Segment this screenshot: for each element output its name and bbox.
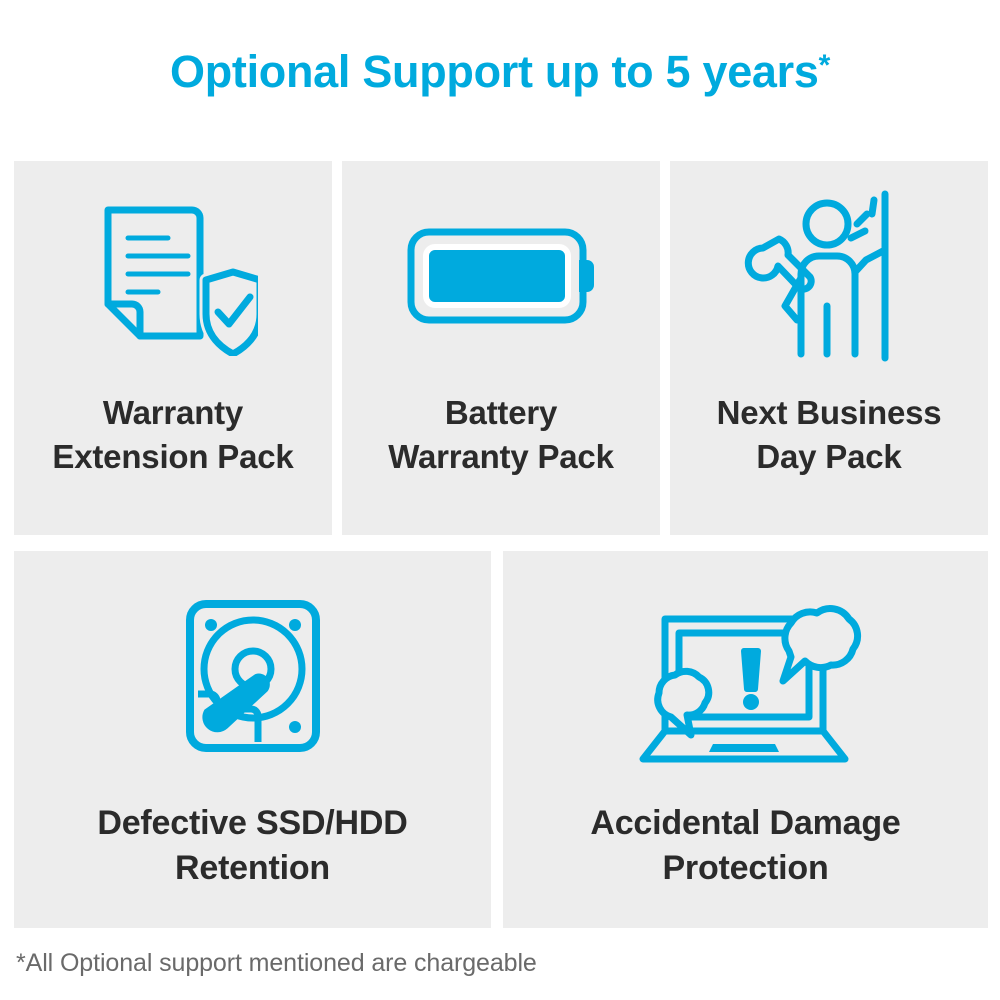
document-shield-check-icon (88, 196, 258, 356)
card-label: Defective SSD/HDD Retention (91, 801, 413, 891)
card-defective-ssd-hdd-retention[interactable]: Defective SSD/HDD Retention (14, 551, 491, 928)
icon-container (503, 551, 988, 801)
card-label-line-2: Day Pack (717, 435, 942, 479)
technician-person-wrench-icon (739, 186, 919, 366)
card-accidental-damage-protection[interactable]: Accidental Damage Protection (503, 551, 988, 928)
footnote-text: *All Optional support mentioned are char… (16, 949, 537, 978)
card-label: Next Business Day Pack (711, 391, 948, 479)
page-title-text: Optional Support up to 5 years (170, 46, 819, 97)
card-row-top: Warranty Extension Pack Battery Warranty… (14, 161, 988, 535)
page-title-asterisk: * (819, 49, 830, 82)
icon-container (342, 161, 660, 391)
card-label-line-1: Defective SSD/HDD (97, 801, 407, 846)
card-label: Accidental Damage Protection (584, 801, 906, 891)
card-label: Warranty Extension Pack (46, 391, 299, 479)
card-label-line-1: Accidental Damage (590, 801, 900, 846)
card-label-line-2: Protection (590, 846, 900, 891)
page-title: Optional Support up to 5 years* (0, 46, 1000, 98)
hard-disk-drive-icon (178, 596, 328, 756)
card-label-line-2: Extension Pack (52, 435, 293, 479)
card-label-line-2: Warranty Pack (388, 435, 613, 479)
icon-container (670, 161, 988, 391)
card-battery-warranty-pack[interactable]: Battery Warranty Pack (342, 161, 660, 535)
laptop-damage-warning-icon (621, 581, 871, 771)
card-label-line-1: Next Business (717, 391, 942, 435)
card-label: Battery Warranty Pack (382, 391, 619, 479)
card-label-line-1: Warranty (52, 391, 293, 435)
card-next-business-day-pack[interactable]: Next Business Day Pack (670, 161, 988, 535)
infographic-page: Optional Support up to 5 years* (0, 0, 1000, 1000)
card-label-line-1: Battery (388, 391, 613, 435)
card-row-bottom: Defective SSD/HDD Retention (14, 551, 988, 928)
card-label-line-2: Retention (97, 846, 407, 891)
card-warranty-extension-pack[interactable]: Warranty Extension Pack (14, 161, 332, 535)
icon-container (14, 161, 332, 391)
icon-container (14, 551, 491, 801)
battery-icon (401, 216, 601, 336)
